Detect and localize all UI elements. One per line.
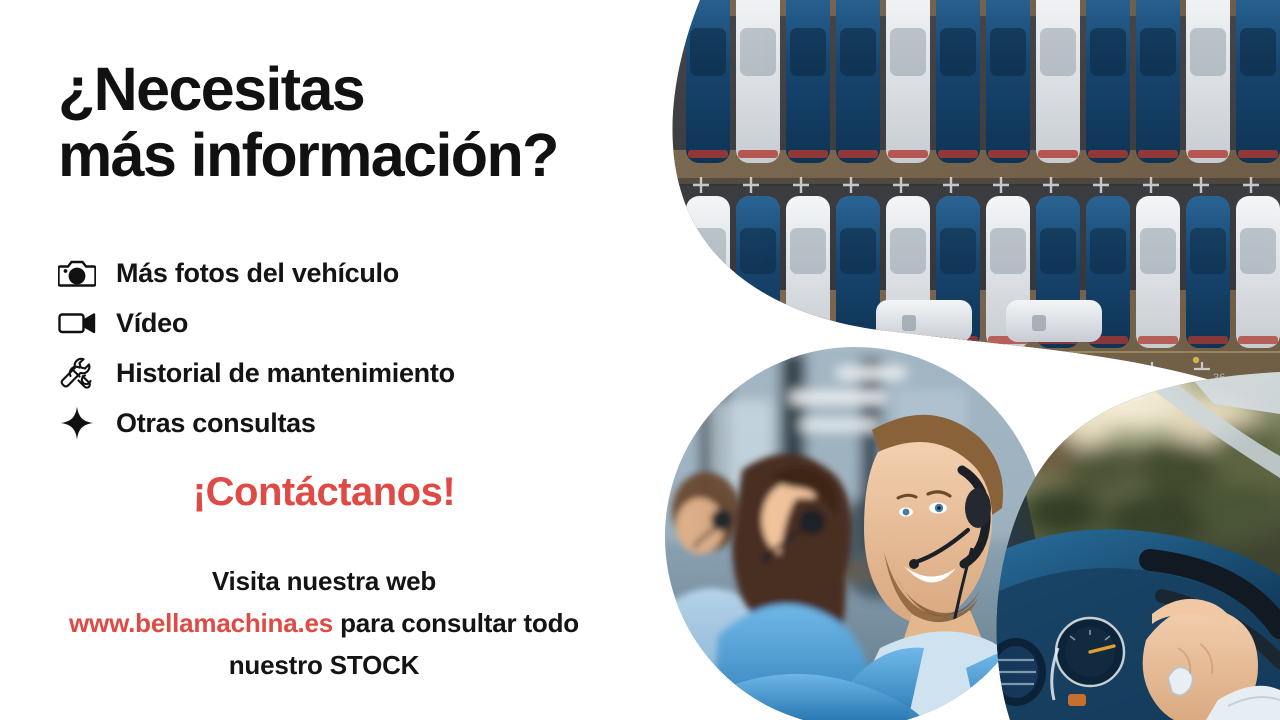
video-icon	[52, 303, 102, 343]
feature-label: Otras consultas	[116, 408, 316, 439]
camera-icon	[52, 253, 102, 293]
svg-text:38: 38	[1113, 372, 1125, 384]
footer-line-1: Visita nuestra web	[0, 560, 648, 602]
svg-text:39: 39	[1063, 372, 1075, 384]
svg-text:45: 45	[763, 372, 775, 384]
footer-line-2-rest: para consultar todo	[333, 608, 579, 638]
svg-text:43: 43	[863, 372, 875, 384]
text-column: ¿Necesitas más información? Más fotos de…	[0, 0, 690, 720]
footer-text: Visita nuestra web www.bellamachina.es p…	[0, 560, 648, 686]
sparkle-icon	[52, 403, 102, 443]
call-center-photo	[660, 340, 1060, 720]
footer-line-2: www.bellamachina.es para consultar todo	[0, 602, 648, 644]
feature-item-other: Otras consultas	[52, 398, 652, 448]
svg-text:37: 37	[1163, 372, 1175, 384]
feature-label: Vídeo	[116, 308, 188, 339]
page-title: ¿Necesitas más información?	[58, 56, 678, 189]
feature-label: Más fotos del vehículo	[116, 258, 399, 289]
feature-item-photos: Más fotos del vehículo	[52, 248, 652, 298]
svg-text:44: 44	[813, 372, 825, 384]
svg-text:36: 36	[1213, 372, 1225, 384]
car-lot-photo: 4544 4342 4140 3938 3736	[640, 0, 1280, 502]
svg-text:40: 40	[1013, 372, 1025, 384]
svg-text:41: 41	[963, 372, 975, 384]
feature-list: Más fotos del vehículo Vídeo	[52, 248, 652, 448]
driving-photo	[964, 360, 1280, 720]
feature-label: Historial de mantenimiento	[116, 358, 455, 389]
contact-cta[interactable]: ¡Contáctanos!	[0, 470, 648, 515]
feature-item-video: Vídeo	[52, 298, 652, 348]
footer-line-3: nuestro STOCK	[0, 644, 648, 686]
svg-text:42: 42	[913, 372, 925, 384]
wrench-icon	[52, 353, 102, 393]
website-url-link[interactable]: www.bellamachina.es	[69, 608, 333, 638]
feature-item-maintenance: Historial de mantenimiento	[52, 348, 652, 398]
